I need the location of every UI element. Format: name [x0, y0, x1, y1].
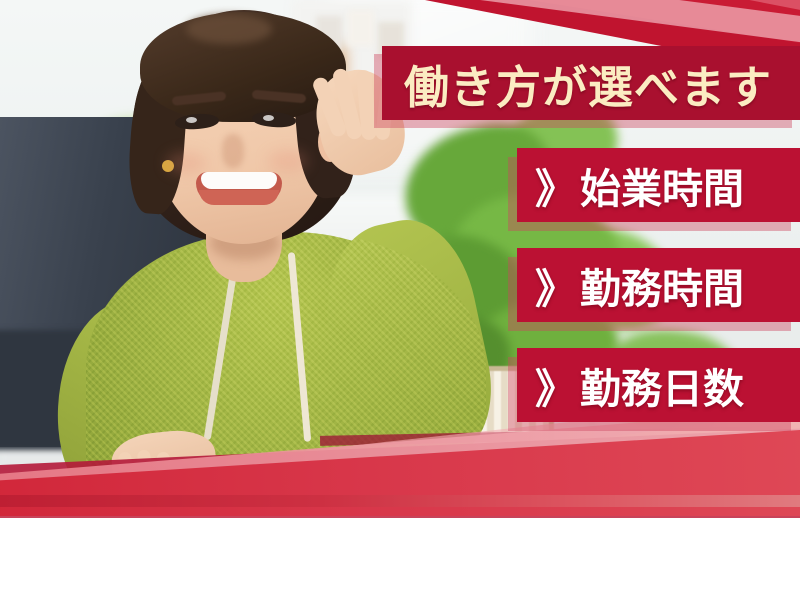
eye-highlight [263, 115, 274, 121]
double-chevron-icon: 》 [535, 155, 576, 215]
double-chevron-icon: 》 [535, 355, 576, 415]
footer: ライフスタイルに合わせて働く。 [0, 518, 800, 599]
lower-lip [199, 190, 279, 205]
feature-band-start-time: 》始業時間 [517, 148, 800, 222]
feature-text: 勤務日数 [580, 365, 744, 413]
headline-band: 働き方が選べます [382, 46, 800, 120]
cheek-blush [166, 152, 206, 174]
teeth [201, 172, 277, 189]
board-note [348, 10, 374, 46]
footer-gradient-bar [0, 495, 800, 507]
recruitment-banner: 働き方が選べます 》始業時間 》勤務時間 》勤務日数 ライフスタイルに合わせて働… [0, 0, 800, 599]
eye-highlight [186, 117, 197, 123]
cheek-blush [268, 150, 308, 172]
headline-text: 働き方が選べます [404, 51, 772, 116]
feature-band-work-days: 》勤務日数 [517, 348, 800, 422]
feature-label-work-days: 》勤務日数 [535, 355, 744, 415]
feature-text: 始業時間 [580, 165, 744, 213]
feature-text: 勤務時間 [580, 265, 744, 313]
nose [222, 134, 244, 168]
double-chevron-icon: 》 [535, 255, 576, 315]
feature-label-start-time: 》始業時間 [535, 155, 744, 215]
hair-parting [186, 14, 272, 44]
feature-band-work-hours: 》勤務時間 [517, 248, 800, 322]
feature-label-work-hours: 》勤務時間 [535, 255, 744, 315]
